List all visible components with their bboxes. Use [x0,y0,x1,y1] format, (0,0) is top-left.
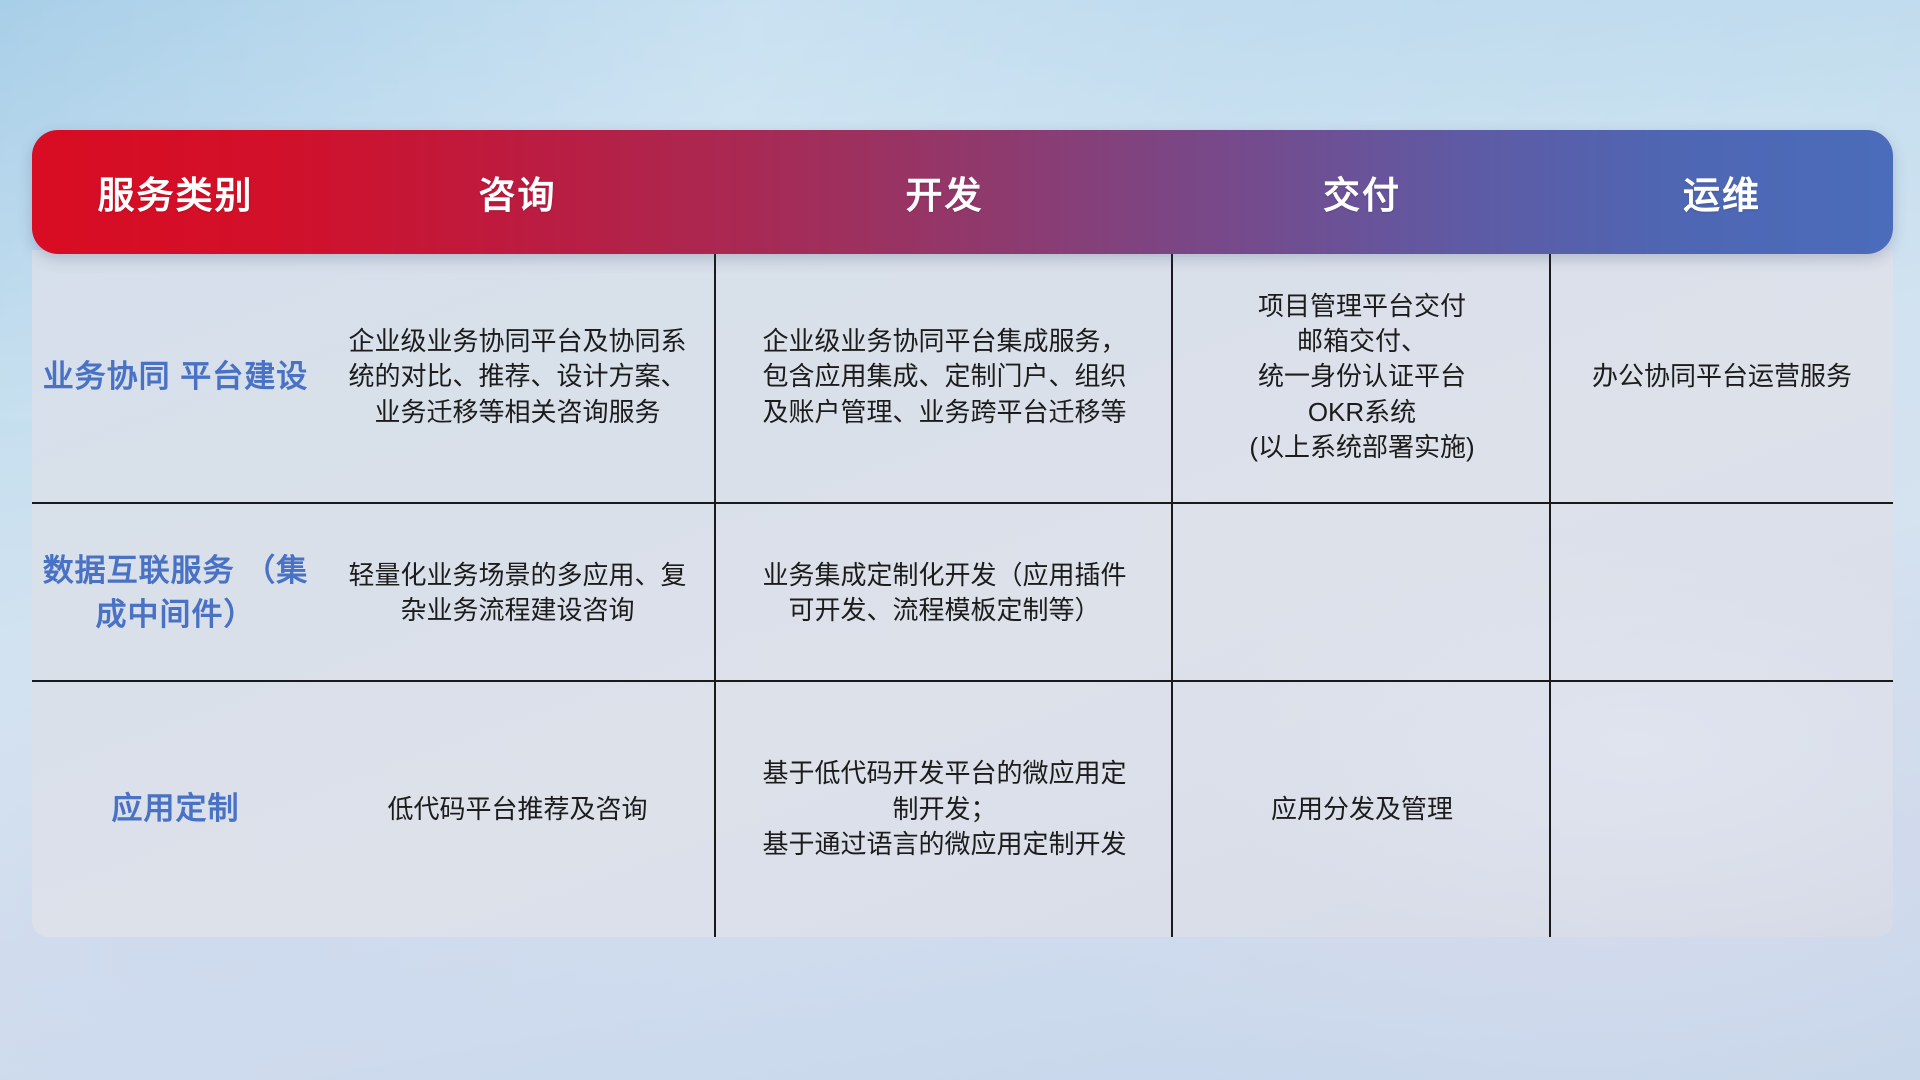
row-category-cell: 应用定制 [32,682,319,937]
table-row: 应用定制 低代码平台推荐及咨询 基于低代码开发平台的微应用定 制开发； 基于通过… [32,682,1893,937]
column-header-delivery-label: 交付 [1323,165,1401,219]
row-development-text: 企业级业务协同平台集成服务， 包含应用集成、定制门户、组织 及账户管理、业务跨平… [746,324,1142,430]
row-delivery-cell: 项目管理平台交付 邮箱交付、 统一身份认证平台 OKR系统 (以上系统部署实施) [1173,250,1551,504]
column-header-category: 服务类别 [32,130,319,254]
row-operations-text: 办公协同平台运营服务 [1576,359,1868,394]
row-consulting-text: 企业级业务协同平台及协同系 统的对比、推荐、设计方案、 业务迁移等相关咨询服务 [332,324,702,430]
row-development-cell: 企业级业务协同平台集成服务， 包含应用集成、定制门户、组织 及账户管理、业务跨平… [716,250,1173,504]
row-consulting-cell: 低代码平台推荐及咨询 [319,682,716,937]
column-header-development: 开发 [716,130,1173,254]
row-delivery-cell [1173,504,1551,682]
table-body: 业务协同 平台建设 企业级业务协同平台及协同系 统的对比、推荐、设计方案、 业务… [32,250,1893,937]
column-header-consulting: 咨询 [319,130,716,254]
column-header-delivery: 交付 [1173,130,1551,254]
row-development-text: 基于低代码开发平台的微应用定 制开发； 基于通过语言的微应用定制开发 [746,756,1142,862]
row-delivery-text: 项目管理平台交付 邮箱交付、 统一身份认证平台 OKR系统 (以上系统部署实施) [1233,289,1490,466]
row-category-cell: 数据互联服务 （集成中间件） [32,504,319,682]
row-consulting-cell: 企业级业务协同平台及协同系 统的对比、推荐、设计方案、 业务迁移等相关咨询服务 [319,250,716,504]
row-category-label: 数据互联服务 （集成中间件） [32,549,319,637]
row-consulting-text: 低代码平台推荐及咨询 [371,792,663,827]
row-consulting-text: 轻量化业务场景的多应用、复 杂业务流程建设咨询 [332,558,702,629]
row-category-label: 业务协同 平台建设 [43,355,309,399]
row-operations-cell: 办公协同平台运营服务 [1551,250,1893,504]
column-header-operations-label: 运维 [1683,165,1761,219]
column-header-consulting-label: 咨询 [479,165,557,219]
column-header-operations: 运维 [1551,130,1893,254]
row-development-text: 业务集成定制化开发（应用插件 可开发、流程模板定制等） [746,558,1142,629]
row-operations-cell [1551,682,1893,937]
row-delivery-cell: 应用分发及管理 [1173,682,1551,937]
row-development-cell: 业务集成定制化开发（应用插件 可开发、流程模板定制等） [716,504,1173,682]
row-delivery-text: 应用分发及管理 [1255,792,1469,827]
row-category-cell: 业务协同 平台建设 [32,250,319,504]
column-header-category-label: 服务类别 [98,165,254,219]
row-development-cell: 基于低代码开发平台的微应用定 制开发； 基于通过语言的微应用定制开发 [716,682,1173,937]
column-header-development-label: 开发 [906,165,984,219]
table-row: 业务协同 平台建设 企业级业务协同平台及协同系 统的对比、推荐、设计方案、 业务… [32,250,1893,504]
table-header-row: 服务类别 咨询 开发 交付 运维 [32,130,1893,254]
service-matrix-table: 服务类别 咨询 开发 交付 运维 业务协同 平台建设 企业级业务协同平台及协同系… [32,130,1893,937]
row-operations-cell [1551,504,1893,682]
row-consulting-cell: 轻量化业务场景的多应用、复 杂业务流程建设咨询 [319,504,716,682]
table-row: 数据互联服务 （集成中间件） 轻量化业务场景的多应用、复 杂业务流程建设咨询 业… [32,504,1893,682]
row-category-label: 应用定制 [112,787,240,831]
